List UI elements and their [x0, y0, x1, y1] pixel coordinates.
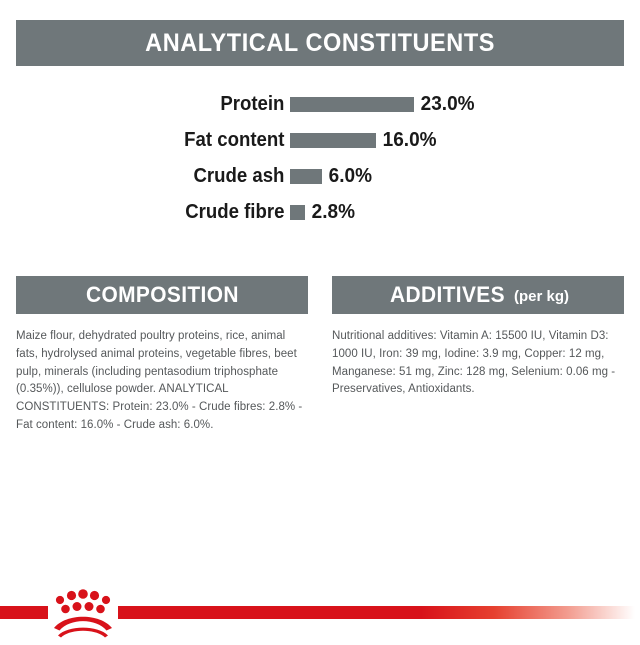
analytical-constituents-chart: Protein 23.0% Fat content 16.0% Crude as… — [0, 86, 640, 230]
chart-row: Crude ash 6.0% — [0, 158, 640, 194]
chart-bar-label: Crude ash — [20, 165, 290, 188]
composition-panel-header: COMPOSITION — [16, 276, 308, 314]
chart-bar-fill — [290, 169, 322, 184]
additives-panel-header: ADDITIVES (per kg) — [332, 276, 624, 314]
chart-bar-group: 2.8% — [290, 201, 358, 224]
chart-bar-value: 16.0% — [376, 129, 437, 152]
chart-bar-value: 6.0% — [322, 165, 372, 188]
chart-bar-fill — [290, 133, 376, 148]
royal-canin-crown-icon — [48, 584, 118, 640]
chart-bar-label: Fat content — [20, 129, 290, 152]
chart-bar-group: 6.0% — [290, 165, 375, 188]
chart-row: Protein 23.0% — [0, 86, 640, 122]
additives-panel: ADDITIVES (per kg) Nutritional additives… — [332, 276, 624, 435]
chart-bar-fill — [290, 205, 305, 220]
chart-bar-fill — [290, 97, 414, 112]
info-panels: COMPOSITION Maize flour, dehydrated poul… — [16, 276, 624, 435]
analytical-constituents-header: ANALYTICAL CONSTITUENTS — [16, 20, 624, 66]
chart-bar-label: Protein — [20, 93, 290, 116]
brand-footer — [0, 584, 640, 640]
brand-bar-right — [118, 606, 640, 619]
page-title: ANALYTICAL CONSTITUENTS — [145, 31, 495, 56]
additives-panel-title: ADDITIVES — [390, 284, 505, 306]
chart-row: Crude fibre 2.8% — [0, 194, 640, 230]
chart-row: Fat content 16.0% — [0, 122, 640, 158]
chart-bar-label: Crude fibre — [20, 201, 290, 224]
chart-bar-value: 23.0% — [414, 93, 475, 116]
chart-bar-value: 2.8% — [305, 201, 355, 224]
additives-panel-subtitle: (per kg) — [514, 289, 569, 304]
chart-bar-group: 23.0% — [290, 93, 478, 116]
brand-bar-left — [0, 606, 48, 619]
composition-panel: COMPOSITION Maize flour, dehydrated poul… — [16, 276, 308, 435]
composition-panel-title: COMPOSITION — [86, 284, 239, 306]
composition-panel-body: Maize flour, dehydrated poultry proteins… — [16, 314, 308, 435]
additives-panel-body: Nutritional additives: Vitamin A: 15500 … — [332, 314, 624, 399]
chart-bar-group: 16.0% — [290, 129, 440, 152]
